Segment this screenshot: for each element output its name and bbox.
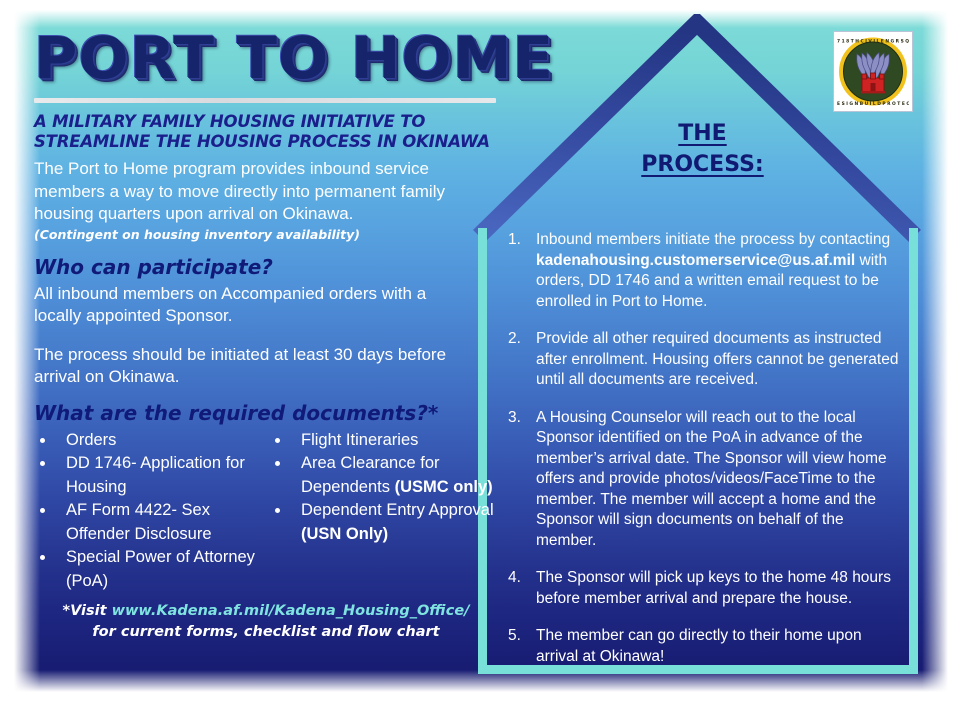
list-item-label: Dependent Entry Approval <box>301 501 494 519</box>
bullet-dot-icon <box>40 508 45 513</box>
process-heading-line2: PROCESS: <box>595 149 810 180</box>
subtitle-line1: A MILITARY FAMILY HOUSING INITIATIVE TO <box>34 112 500 132</box>
list-item-label: Flight Itineraries <box>301 431 418 449</box>
kadena-housing-url[interactable]: www.Kadena.af.mil/Kadena_Housing_Office/ <box>112 603 470 619</box>
process-heading-line1: THE <box>595 118 810 149</box>
process-step: The Sponsor will pick up keys to the hom… <box>500 568 908 609</box>
required-documents-lists: Orders DD 1746- Application for Housing … <box>32 429 500 594</box>
bullet-dot-icon <box>40 461 45 466</box>
process-steps: Inbound members initiate the process by … <box>500 230 908 684</box>
squadron-patch-icon: 7 1 8 T H C I V I L E N G R S Q D E S I … <box>833 31 913 112</box>
list-item: Dependent Entry Approval (USN Only) <box>267 499 494 546</box>
documents-column-right: Flight Itineraries Area Clearance for De… <box>267 429 494 594</box>
list-item: AF Form 4422- Sex Offender Disclosure <box>32 499 259 546</box>
list-item: DD 1746- Application for Housing <box>32 452 259 499</box>
process-step: Provide all other required documents as … <box>500 329 908 391</box>
svg-text:7 1 8 T H C I V I L E N G R: 7 1 8 T H C I V I L E N G R S Q <box>837 39 909 45</box>
page-title: PORT TO HOME <box>34 26 509 90</box>
who-heading: Who can participate? <box>34 255 500 279</box>
list-item-label: Orders <box>66 431 116 449</box>
process-steps-list: Inbound members initiate the process by … <box>500 230 908 667</box>
list-item: Flight Itineraries <box>267 429 494 453</box>
list-item-qualifier: (USN Only) <box>301 525 388 543</box>
bullet-dot-icon <box>40 438 45 443</box>
poster-canvas: 7 1 8 T H C I V I L E N G R S Q D E S I … <box>0 0 960 720</box>
documents-column-left: Orders DD 1746- Application for Housing … <box>32 429 259 594</box>
intro-paragraph: The Port to Home program provides inboun… <box>34 158 486 226</box>
title-divider <box>34 98 496 103</box>
list-item: Orders <box>32 429 259 453</box>
list-item: Area Clearance for Dependents (USMC only… <box>267 452 494 499</box>
bullet-dot-icon <box>275 508 280 513</box>
step-text-pre: The Sponsor will pick up keys to the hom… <box>536 569 891 607</box>
process-step: A Housing Counselor will reach out to th… <box>500 408 908 552</box>
timing-note: The process should be initiated at least… <box>34 344 454 389</box>
contingent-note: (Contingent on housing inventory availab… <box>34 227 500 243</box>
step-text-pre: A Housing Counselor will reach out to th… <box>536 409 887 549</box>
process-step: Inbound members initiate the process by … <box>500 230 908 312</box>
subtitle: A MILITARY FAMILY HOUSING INITIATIVE TO … <box>34 112 500 152</box>
list-item: Special Power of Attorney (PoA) <box>32 546 259 593</box>
list-item-label: Special Power of Attorney (PoA) <box>66 548 255 590</box>
bullet-dot-icon <box>40 555 45 560</box>
step-email: kadenahousing.customerservice@us.af.mil <box>536 252 855 269</box>
process-heading: THE PROCESS: <box>595 118 810 180</box>
svg-text:D E S I G N B U I L D P R O: D E S I G N B U I L D P R O T E C T <box>837 101 909 107</box>
step-text-pre: Inbound members initiate the process by … <box>536 231 890 248</box>
process-step: The member can go directly to their home… <box>500 626 908 667</box>
list-item-qualifier: (USMC only) <box>395 478 493 496</box>
step-text-pre: Provide all other required documents as … <box>536 330 898 388</box>
bullet-dot-icon <box>275 461 280 466</box>
left-content-column: PORT TO HOME A MILITARY FAMILY HOUSING I… <box>30 18 500 678</box>
documents-heading: What are the required documents?* <box>34 401 500 425</box>
list-item-label: DD 1746- Application for Housing <box>66 454 245 496</box>
list-item-label: AF Form 4422- Sex Offender Disclosure <box>66 501 212 543</box>
who-answer: All inbound members on Accompanied order… <box>34 283 474 328</box>
footnote-tail: for current forms, checklist and flow ch… <box>92 624 439 640</box>
footnote-lead: *Visit <box>63 603 112 619</box>
step-text-pre: The member can go directly to their home… <box>536 627 862 665</box>
subtitle-line2: STREAMLINE THE HOUSING PROCESS IN OKINAW… <box>34 132 500 152</box>
bullet-dot-icon <box>275 438 280 443</box>
footnote: *Visit www.Kadena.af.mil/Kadena_Housing_… <box>42 601 490 643</box>
